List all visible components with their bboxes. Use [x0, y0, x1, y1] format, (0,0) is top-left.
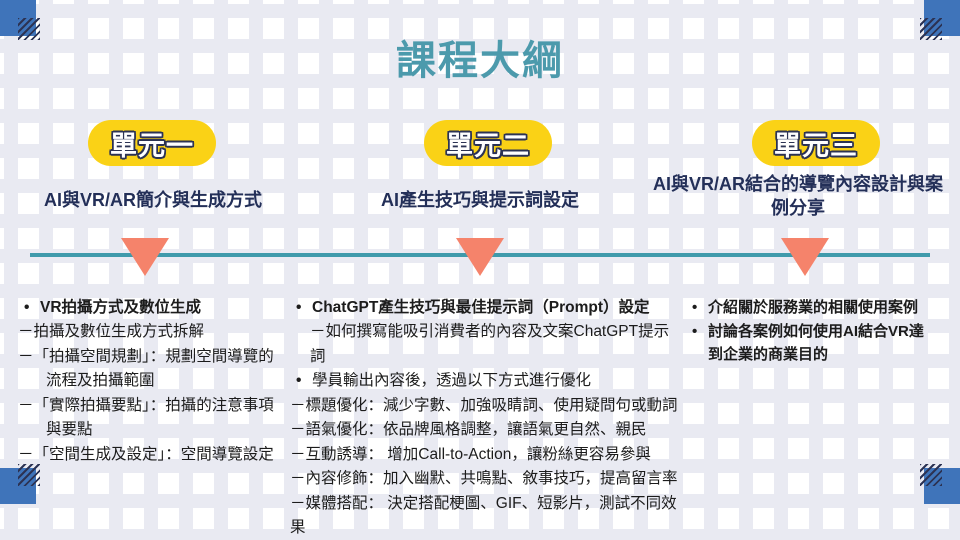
content-line: 與要點: [16, 418, 288, 442]
content-line: 學員輸出內容後，透過以下方式進行優化: [288, 369, 680, 393]
unit-badge-2: 單元二: [424, 120, 552, 166]
timeline-marker-1: [121, 238, 169, 276]
content-line: －如何撰寫能吸引消費者的內容及文案ChatGPT提示詞: [288, 320, 680, 369]
content-line: －標題優化：減少字數、加強吸睛詞、使用疑問句或動詞: [288, 394, 680, 418]
content-line: －拍攝及數位生成方式拆解: [16, 320, 288, 344]
content-line: －互動誘導： 增加Call-to-Action，讓粉絲更容易參與: [288, 443, 680, 467]
corner-decoration-bottom-left: [0, 468, 36, 504]
page-title: 課程大綱: [0, 28, 960, 86]
unit-badge-label: 單元三: [774, 124, 858, 163]
unit-badge-3: 單元三: [752, 120, 880, 166]
content-line: VR拍攝方式及數位生成: [16, 296, 288, 320]
content-line: 到企業的商業目的: [684, 343, 952, 367]
timeline-marker-3: [781, 238, 829, 276]
content-line: －「空間生成及設定」：空間導覽設定: [16, 443, 288, 467]
content-line: －內容修飾：加入幽默、共鳴點、敘事技巧，提高留言率: [288, 467, 680, 491]
content-line: －語氣優化：依品牌風格調整，讓語氣更自然、親民: [288, 418, 680, 442]
unit-heading-2: AI產生技巧與提示詞設定: [330, 188, 630, 212]
corner-hatch-square: [920, 464, 942, 486]
content-line: －「拍攝空間規劃」：規劃空間導覽的: [16, 345, 288, 369]
unit-badge-label: 單元二: [446, 124, 530, 163]
unit-heading-3: AI與VR/AR結合的導覽內容設計與案例分享: [648, 172, 948, 221]
content-line: 介紹關於服務業的相關使用案例: [684, 296, 952, 320]
content-line: 討論各案例如何使用AI結合VR達: [684, 320, 952, 344]
unit-content-1: VR拍攝方式及數位生成－拍攝及數位生成方式拆解－「拍攝空間規劃」：規劃空間導覽的…: [16, 296, 288, 467]
slide-canvas: 課程大綱 單元一 單元二 單元三 AI與VR/AR簡介與生成方式 AI產生技巧與…: [0, 0, 960, 540]
unit-badge-label: 單元一: [110, 124, 194, 163]
content-line: ChatGPT產生技巧與最佳提示詞（Prompt）設定: [288, 296, 680, 320]
content-line: －「實際拍攝要點」：拍攝的注意事項: [16, 394, 288, 418]
unit-heading-1: AI與VR/AR簡介與生成方式: [8, 188, 298, 212]
content-line: 流程及拍攝範圍: [16, 369, 288, 393]
unit-content-2: ChatGPT產生技巧與最佳提示詞（Prompt）設定－如何撰寫能吸引消費者的內…: [288, 296, 680, 540]
timeline-marker-2: [456, 238, 504, 276]
content-line: －媒體搭配： 決定搭配梗圖、GIF、短影片，測試不同效果: [288, 492, 680, 540]
unit-badge-1: 單元一: [88, 120, 216, 166]
unit-content-3: 介紹關於服務業的相關使用案例討論各案例如何使用AI結合VR達到企業的商業目的: [684, 296, 952, 367]
corner-decoration-bottom-right: [924, 468, 960, 504]
